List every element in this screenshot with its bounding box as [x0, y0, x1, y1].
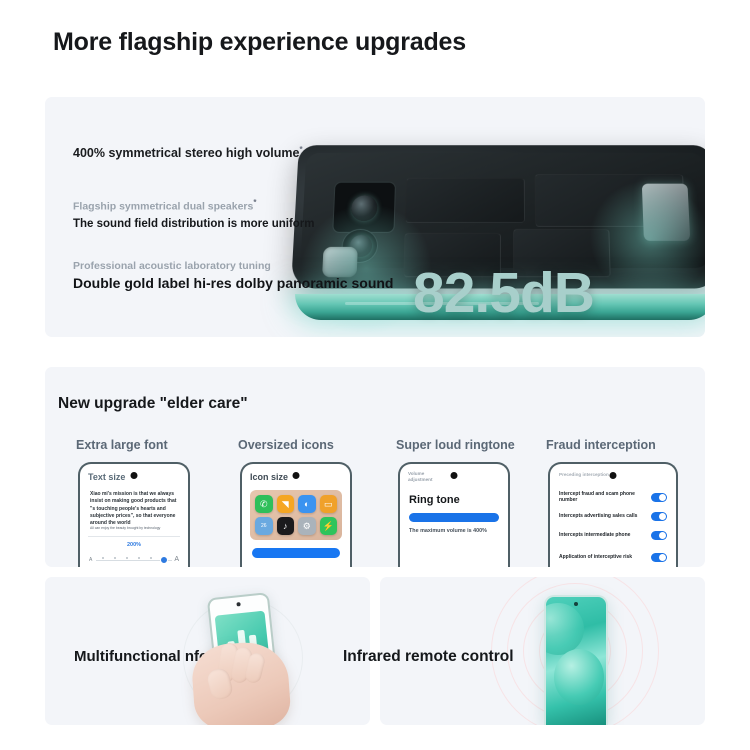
weather-app-icon[interactable]: 26 [255, 517, 273, 535]
phone-mock-icon-size: Icon size ✆ ◥ ◐ ▭ 26 ♪ ⚙ ⚡ [240, 462, 352, 567]
page-root: More flagship experience upgrades [0, 0, 750, 750]
browser-app-icon[interactable]: ◐ [298, 495, 316, 513]
text-size-sample-body: Xiao mi's mission is that we always insi… [90, 491, 180, 527]
phone-mock-ringtone: Volume adjustment Ring tone The maximum … [398, 462, 510, 567]
fraud-toggle-scam-number[interactable] [651, 493, 667, 502]
phone-mock-text-size: Text size Xiao mi's mission is that we a… [78, 462, 190, 567]
infrared-phone-mock [544, 595, 608, 725]
front-camera-icon [574, 602, 578, 606]
large-a-icon: A [174, 556, 179, 563]
front-camera-icon [293, 472, 300, 479]
divider [88, 536, 180, 537]
fraud-row-label: Intercepts advertising sales calls [559, 513, 637, 519]
fraud-row-sales-calls[interactable]: Intercepts advertising sales calls [559, 509, 667, 523]
ringtone-volume-slider[interactable] [409, 513, 499, 522]
fraud-toggle-intermediate-phone[interactable] [651, 531, 667, 540]
fraud-row-label: Intercepts intermediate phone [559, 532, 630, 538]
volume-adjustment-label: Volume adjustment [408, 471, 433, 482]
text-size-title: Text size [88, 472, 125, 482]
text-size-sample-small: All can enjoy the beauty brought by tech… [90, 526, 180, 530]
audio-headline-volume-text: 400% symmetrical stereo high volume [73, 146, 299, 160]
fraud-row-label: Intercept fraud and scam phone number [559, 491, 651, 503]
audio-sub-speakers-text: Flagship symmetrical dual speakers [73, 201, 253, 213]
phone-app-icon[interactable]: ✆ [255, 495, 273, 513]
page-title: More flagship experience upgrades [53, 28, 466, 57]
teardown-chip [405, 178, 525, 223]
front-camera-icon [131, 472, 138, 479]
elder-care-title: New upgrade "elder care" [58, 395, 248, 413]
fraud-row-interceptive-risk[interactable]: Application of interceptive risk [559, 550, 667, 564]
phone-mock-fraud-interception: Preceding interception Intercept fraud a… [548, 462, 678, 567]
fraud-row-label: Application of interceptive risk [559, 554, 632, 560]
volume-adjustment-line2: adjustment [408, 477, 433, 482]
audio-group-tuning: Professional acoustic laboratory tuning … [73, 260, 393, 291]
feature-label-super-loud-ringtone: Super loud ringtone [396, 438, 515, 452]
feature-label-fraud-interception: Fraud interception [546, 438, 656, 452]
audio-main-soundfield: The sound field distribution is more uni… [73, 218, 393, 230]
fraud-row-scam-number[interactable]: Intercept fraud and scam phone number [559, 490, 667, 504]
audio-text-block: 400% symmetrical stereo high volume* Fla… [73, 145, 393, 291]
slider-tick [126, 557, 128, 559]
settings-app-icon[interactable]: ⚙ [298, 517, 316, 535]
fraud-row-intermediate-phone[interactable]: Intercepts intermediate phone [559, 528, 667, 542]
slider-tick [150, 557, 152, 559]
slider-tick [102, 557, 104, 559]
asterisk-icon: * [299, 145, 302, 154]
flashlight-app-icon[interactable]: ⚡ [320, 517, 338, 535]
infrared-label: Infrared remote control [343, 648, 514, 666]
front-camera-icon [610, 472, 617, 479]
icon-size-title: Icon size [250, 472, 288, 482]
text-size-slider[interactable]: A A [88, 556, 180, 565]
volume-adjustment-line1: Volume [408, 471, 424, 476]
icon-size-slider[interactable] [252, 548, 340, 558]
audio-sub-tuning: Professional acoustic laboratory tuning [73, 260, 393, 272]
text-size-percent: 200% [80, 542, 188, 548]
ringtone-title: Ring tone [409, 494, 460, 506]
slider-knob[interactable] [160, 556, 168, 564]
audio-group-speakers: Flagship symmetrical dual speakers* The … [73, 198, 393, 230]
audio-headline-volume: 400% symmetrical stereo high volume* [73, 145, 393, 160]
notes-app-icon[interactable]: ◥ [277, 495, 295, 513]
decibel-value: 82.5dB [413, 265, 594, 322]
ringtone-max-volume-note: The maximum volume is 400% [409, 528, 487, 534]
audio-feature-panel: 400% symmetrical stereo high volume* Fla… [45, 97, 705, 337]
audio-sub-speakers: Flagship symmetrical dual speakers* [73, 198, 393, 213]
wallpaper-blob [554, 649, 604, 705]
teardown-speaker [642, 184, 690, 241]
fraud-interception-title: Preceding interception [559, 472, 609, 477]
wallpaper-blob [544, 603, 584, 655]
infrared-illustration [490, 577, 660, 725]
feature-label-oversized-icons: Oversized icons [238, 438, 334, 452]
slider-tick [138, 557, 140, 559]
asterisk-icon: * [253, 198, 256, 207]
fraud-toggle-sales-calls[interactable] [651, 512, 667, 521]
audio-main-dolby: Double gold label hi-res dolby panoramic… [73, 275, 393, 291]
small-a-icon: A [89, 557, 92, 563]
feature-label-extra-large-font: Extra large font [76, 438, 168, 452]
files-app-icon[interactable]: ▭ [320, 495, 338, 513]
fraud-toggle-interceptive-risk[interactable] [651, 553, 667, 562]
slider-tick [114, 557, 116, 559]
front-camera-icon [451, 472, 458, 479]
app-icon-grid: ✆ ◥ ◐ ▭ 26 ♪ ⚙ ⚡ [250, 490, 342, 540]
music-app-icon[interactable]: ♪ [277, 517, 295, 535]
nfc-illustration: NFC [175, 585, 315, 725]
